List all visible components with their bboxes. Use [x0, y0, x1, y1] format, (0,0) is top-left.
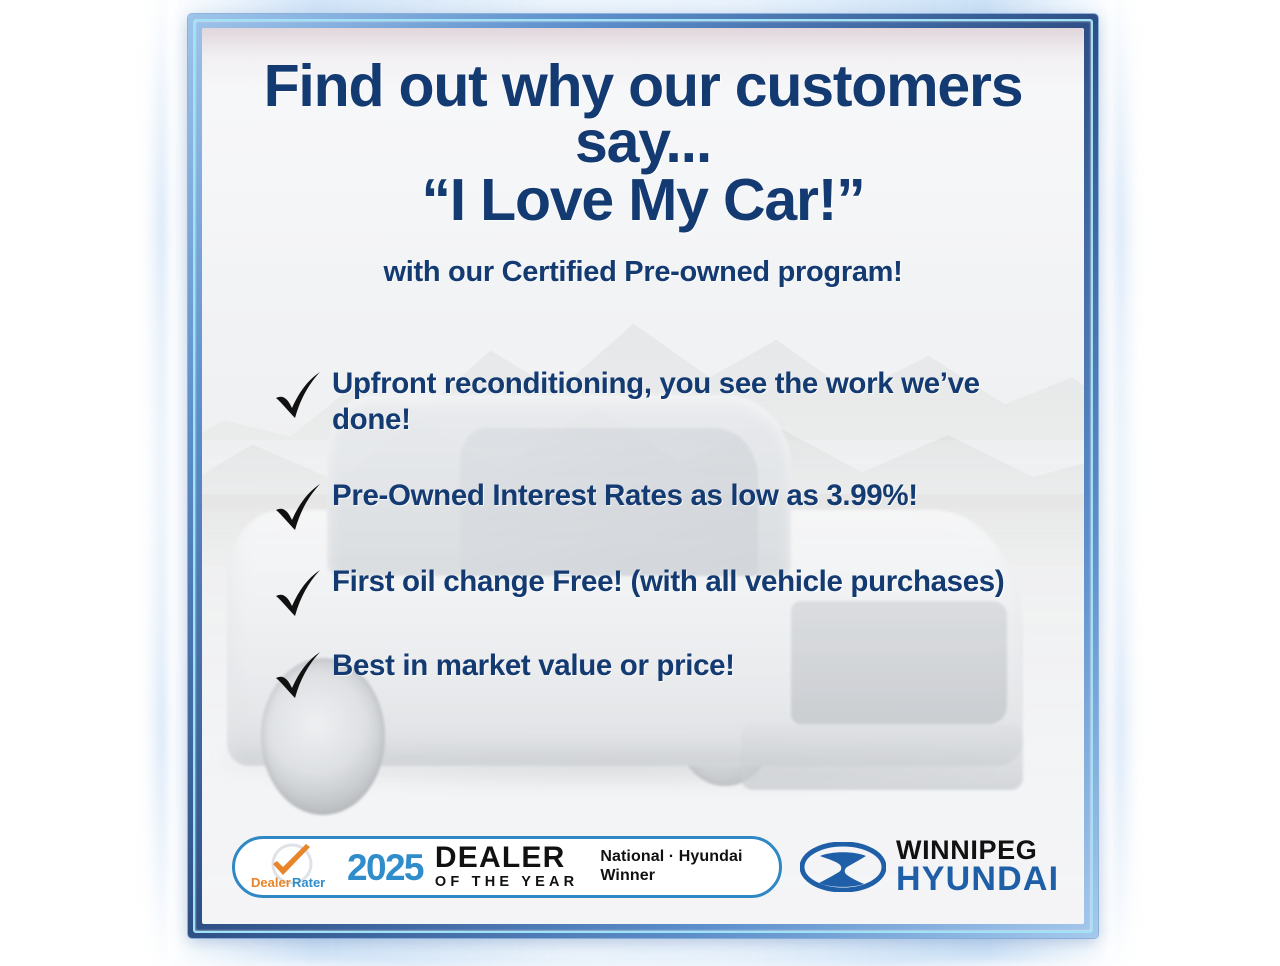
award-of-the-year-label: OF THE YEAR — [435, 873, 578, 891]
award-dealer-label: DEALER — [435, 843, 578, 873]
list-item-label: Upfront reconditioning, you see the work… — [332, 366, 1012, 438]
ad-canvas: Find out why our customers say... “I Lov… — [202, 28, 1084, 924]
check-icon — [272, 566, 326, 620]
ad-footer: Dealer Rater 2025 DEALER OF THE YEAR Nat… — [232, 832, 1062, 902]
ad-stage: Find out why our customers say... “I Lov… — [0, 0, 1280, 960]
list-item-label: Pre-Owned Interest Rates as low as 3.99%… — [332, 478, 918, 514]
dealer-of-the-year-badge: Dealer Rater 2025 DEALER OF THE YEAR Nat… — [232, 836, 782, 898]
headline-line-3: “I Love My Car!” — [236, 172, 1050, 228]
ad-frame: Find out why our customers say... “I Lov… — [188, 14, 1098, 938]
list-item-label: First oil change Free! (with all vehicle… — [332, 564, 1004, 600]
list-item: Upfront reconditioning, you see the work… — [236, 366, 1050, 438]
check-icon — [272, 480, 326, 534]
list-item: First oil change Free! (with all vehicle… — [236, 564, 1050, 612]
headline-line-2: say... — [236, 114, 1050, 170]
dealer-brand-label: HYUNDAI — [896, 864, 1059, 896]
hyundai-emblem-icon — [800, 842, 886, 892]
award-qualifier: National · Hyundai Winner — [600, 848, 742, 886]
list-item: Best in market value or price! — [236, 648, 1050, 696]
dealerrater-logo-icon: Dealer Rater — [249, 842, 335, 892]
award-title: DEALER OF THE YEAR — [435, 843, 578, 891]
headline: Find out why our customers say... “I Lov… — [236, 28, 1050, 228]
list-item-label: Best in market value or price! — [332, 648, 735, 684]
svg-text:Dealer: Dealer — [251, 875, 291, 890]
check-icon — [272, 368, 326, 422]
benefits-list: Upfront reconditioning, you see the work… — [236, 366, 1050, 696]
dealer-name: WINNIPEG HYUNDAI — [896, 838, 1059, 895]
svg-text:Rater: Rater — [292, 875, 325, 890]
check-icon — [272, 648, 326, 702]
list-item: Pre-Owned Interest Rates as low as 3.99%… — [236, 478, 1050, 526]
subheadline: with our Certified Pre-owned program! — [236, 256, 1050, 289]
dealer-logo: WINNIPEG HYUNDAI — [800, 838, 1063, 895]
award-year: 2025 — [347, 849, 423, 886]
award-qualifier-line-2: Winner — [600, 867, 742, 886]
headline-line-1: Find out why our customers — [236, 58, 1050, 114]
award-qualifier-line-1: National · Hyundai — [600, 848, 742, 867]
